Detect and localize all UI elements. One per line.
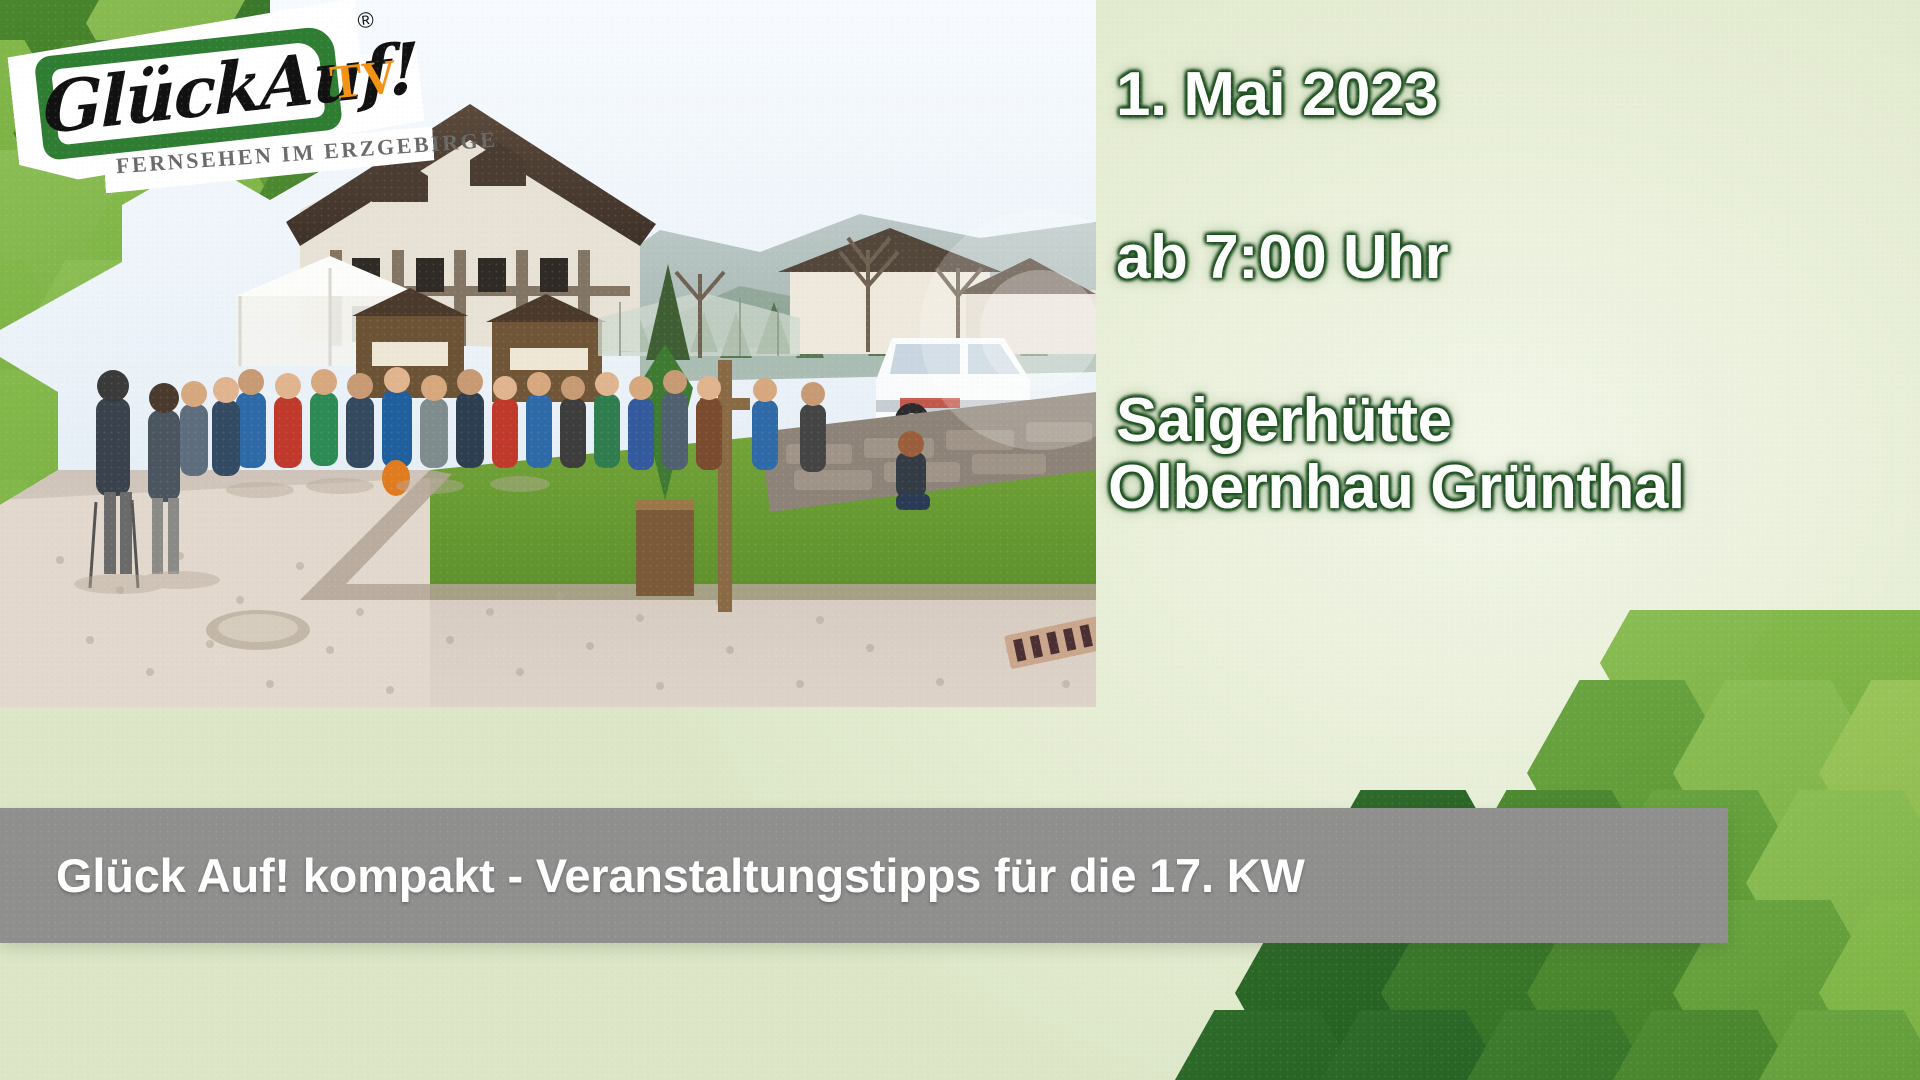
event-venue-line-2: Olbernhau Grünthal [1108, 455, 1908, 522]
spacer-1 [1108, 129, 1908, 225]
event-date: 1. Mai 2023 [1116, 62, 1908, 129]
broadcast-graphic-slide: GlückAuf! ® TV FERNSEHEN IM ERZGEBIRGE 1… [0, 0, 1920, 1080]
lower-third-banner-text: Glück Auf! kompakt - Veranstaltungstipps… [56, 808, 1305, 943]
spacer-2 [1108, 292, 1908, 388]
registered-trademark-icon: ® [356, 7, 375, 35]
logo-tv-suffix: TV [328, 53, 399, 108]
event-venue-line-1: Saigerhütte [1116, 388, 1908, 455]
event-time: ab 7:00 Uhr [1116, 225, 1908, 292]
event-info-block: 1. Mai 2023 ab 7:00 Uhr Saigerhütte Olbe… [1108, 62, 1908, 522]
